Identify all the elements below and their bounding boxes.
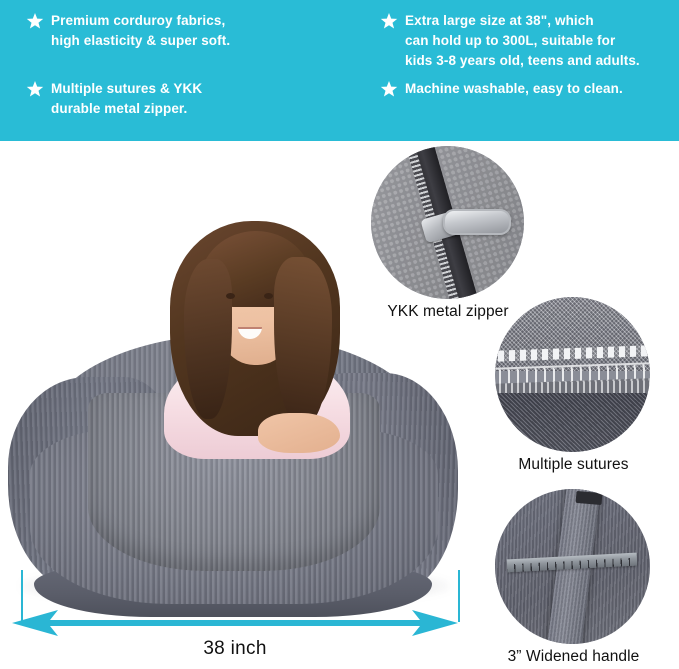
bullet-text: Premium corduroy fabrics, high elasticit… — [51, 11, 230, 51]
sutures-closeup-image — [495, 297, 650, 452]
feature-sutures: Multiple sutures — [468, 297, 679, 474]
child-eye-right — [264, 293, 273, 299]
bullet-machine-washable: Machine washable, easy to clean. — [380, 79, 623, 99]
handle-closeup-image — [495, 489, 650, 644]
star-icon — [380, 80, 398, 98]
handle-label-tag — [575, 491, 602, 505]
bullet-sutures-zipper: Multiple sutures & YKK durable metal zip… — [26, 79, 202, 119]
zipper-closeup-image — [371, 146, 524, 299]
feature-zipper: YKK metal zipper — [348, 146, 548, 321]
bullet-text: Multiple sutures & YKK durable metal zip… — [51, 79, 202, 119]
sutures-lower-fabric — [495, 393, 650, 452]
child-eye-left — [226, 293, 235, 299]
bullet-extra-large-size: Extra large size at 38", which can hold … — [380, 11, 640, 71]
star-icon — [380, 12, 398, 30]
feature-caption: 3” Widened handle — [468, 648, 679, 666]
double-headed-arrow-icon — [0, 608, 470, 638]
bullet-premium-corduroy: Premium corduroy fabrics, high elasticit… — [26, 11, 230, 51]
width-measurement: 38 inch — [0, 560, 470, 669]
star-icon — [26, 80, 44, 98]
child-arm — [258, 413, 340, 453]
banner-bullets-right: Extra large size at 38", which can hold … — [380, 0, 672, 141]
feature-caption: Multiple sutures — [468, 456, 679, 474]
bullet-text: Machine washable, easy to clean. — [405, 79, 623, 99]
feature-banner: Premium corduroy fabrics, high elasticit… — [0, 0, 679, 141]
zipper-pull-tab — [443, 209, 511, 235]
child-hair-left — [184, 259, 232, 419]
star-icon — [26, 12, 44, 30]
bullet-text: Extra large size at 38", which can hold … — [405, 11, 640, 71]
product-infographic: Premium corduroy fabrics, high elasticit… — [0, 0, 679, 669]
dimension-label: 38 inch — [0, 638, 470, 660]
feature-handle: 3” Widened handle — [468, 489, 679, 666]
child-model — [150, 201, 360, 451]
banner-bullets-left: Premium corduroy fabrics, high elasticit… — [26, 0, 336, 141]
